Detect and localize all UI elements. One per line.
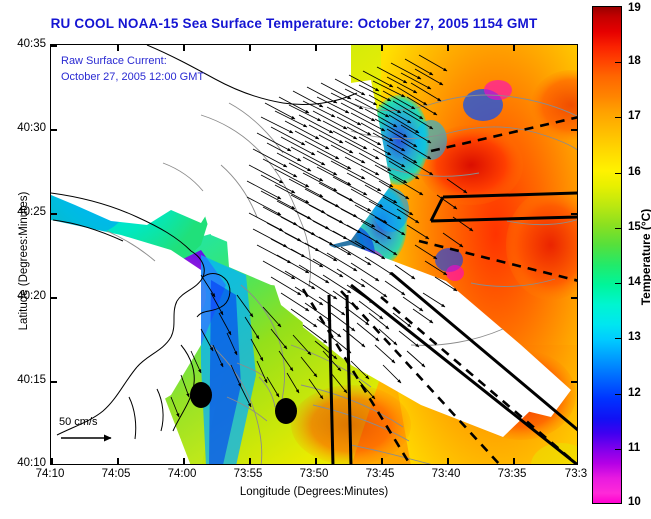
- colorbar-label: 17: [628, 110, 641, 122]
- colorbar-label: 19: [628, 2, 641, 14]
- map-plot-area[interactable]: Raw Surface Current: October 27, 2005 12…: [50, 44, 578, 465]
- vector-scale-label: 50 cm/s: [59, 416, 121, 428]
- annotation-line-2: October 27, 2005 12:00 GMT: [61, 69, 204, 85]
- xtick-label: 74:05: [102, 468, 131, 480]
- ytick-label: 40:35: [17, 38, 46, 50]
- xtick-top: [381, 45, 383, 51]
- temperature-colorbar[interactable]: [592, 6, 622, 504]
- ytick: [51, 381, 57, 383]
- xtick-label: 73:55: [234, 468, 263, 480]
- figure-title: RU COOL NOAA-15 Sea Surface Temperature:…: [0, 16, 588, 31]
- station-marker[interactable]: [190, 382, 212, 408]
- xtick-label: 73:50: [300, 468, 329, 480]
- xtick-top: [447, 45, 449, 51]
- ytick-label: 40:15: [17, 374, 46, 386]
- ytick: [51, 213, 57, 215]
- colorbar-label: 18: [628, 55, 641, 67]
- xtick: [249, 458, 251, 464]
- colorbar-label: 11: [628, 442, 640, 454]
- ytick-right: [571, 297, 577, 299]
- xtick-label: 73:3: [565, 468, 587, 480]
- ytick-right: [571, 213, 577, 215]
- colorbar-title: Temperature (°C): [639, 157, 651, 357]
- ytick: [51, 129, 57, 131]
- colorbar-tick: [615, 394, 621, 395]
- ytick-right: [571, 129, 577, 131]
- xtick-label: 73:40: [432, 468, 461, 480]
- sst-field-svg: [51, 45, 577, 464]
- vector-scale-legend: 50 cm/s: [59, 416, 121, 450]
- xtick: [577, 458, 578, 464]
- xtick-top: [249, 45, 251, 51]
- ytick-right: [571, 381, 577, 383]
- ytick: [51, 464, 57, 465]
- vector-scale-arrow-icon: [59, 431, 121, 445]
- colorbar-tick: [615, 62, 621, 63]
- xtick-label: 74:10: [36, 468, 65, 480]
- colorbar-tick: [615, 117, 621, 118]
- colorbar-tick: [615, 283, 621, 284]
- xtick: [513, 458, 515, 464]
- y-axis-title: Latitude (Degrees:Minutes): [18, 151, 30, 371]
- current-annotation: Raw Surface Current: October 27, 2005 12…: [61, 53, 204, 85]
- colorbar-label: 12: [628, 387, 641, 399]
- xtick: [183, 458, 185, 464]
- xtick-top: [315, 45, 317, 51]
- xtick: [315, 458, 317, 464]
- sst-map-figure: RU COOL NOAA-15 Sea Surface Temperature:…: [0, 0, 651, 519]
- ytick: [51, 45, 57, 47]
- ytick-label: 40:10: [17, 457, 46, 469]
- xtick: [381, 458, 383, 464]
- ytick-label: 40:30: [17, 122, 46, 134]
- x-axis-title: Longitude (Degrees:Minutes): [50, 486, 578, 498]
- xtick: [117, 458, 119, 464]
- colorbar-tick: [615, 228, 621, 229]
- ytick: [51, 297, 57, 299]
- xtick-top: [183, 45, 185, 51]
- station-marker[interactable]: [275, 398, 297, 424]
- xtick-label: 74:00: [168, 468, 197, 480]
- map-canvas: Raw Surface Current: October 27, 2005 12…: [51, 45, 577, 464]
- xtick-top: [117, 45, 119, 51]
- xtick-label: 73:45: [366, 468, 395, 480]
- colorbar-tick: [615, 449, 621, 450]
- xtick: [447, 458, 449, 464]
- colorbar-tick: [615, 338, 621, 339]
- colorbar-label: 10: [628, 496, 641, 508]
- xtick-top: [513, 45, 515, 51]
- colorbar-tick: [615, 173, 621, 174]
- xtick-label: 73:35: [498, 468, 527, 480]
- annotation-line-1: Raw Surface Current:: [61, 53, 204, 69]
